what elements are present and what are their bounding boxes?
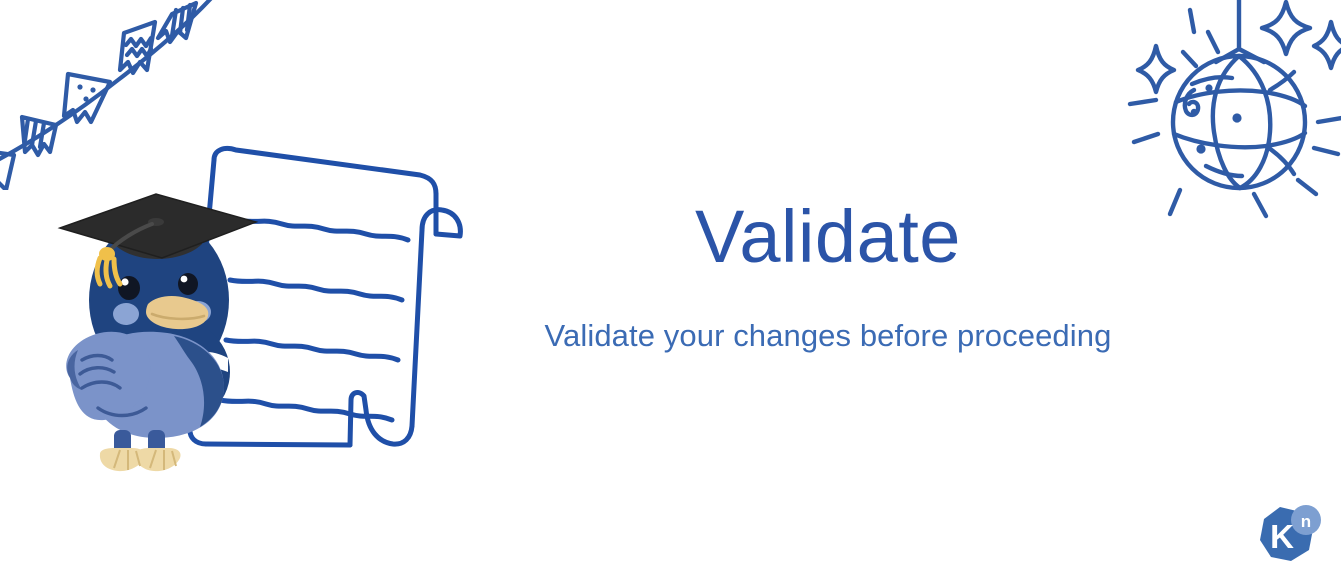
hero-text-block: Validate Validate your changes before pr… <box>478 200 1178 354</box>
page-title: Validate <box>478 200 1178 274</box>
graduate-bird-mascot <box>52 182 267 472</box>
disco-ball-icon <box>1118 0 1341 229</box>
slide-canvas: Validate Validate your changes before pr… <box>0 0 1341 585</box>
page-subtitle: Validate your changes before proceeding <box>478 274 1178 354</box>
certificate-scroll-icon <box>178 138 478 456</box>
logo-primary-letter: K <box>1270 518 1294 555</box>
knative-logo: K n <box>1251 503 1323 571</box>
party-bunting-icon <box>0 0 240 190</box>
logo-secondary-letter: n <box>1301 512 1311 531</box>
